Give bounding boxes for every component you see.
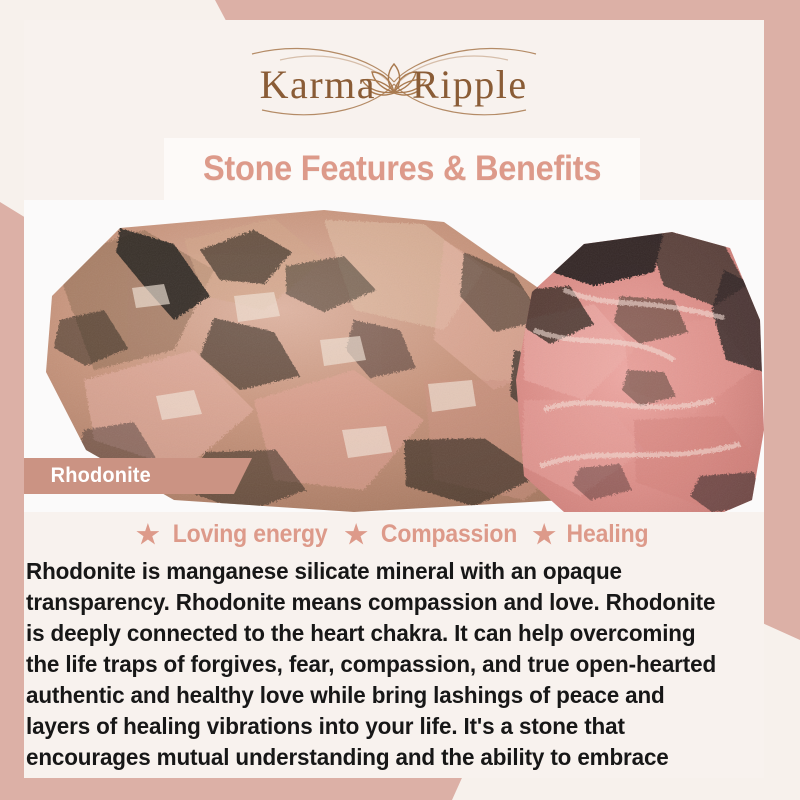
benefit-label: Compassion <box>381 520 517 549</box>
page-title-banner: Stone Features & Benefits <box>164 138 640 200</box>
stone-description-text: Rhodonite is manganese silicate mineral … <box>26 556 727 778</box>
stone-name-label: Rhodonite <box>24 464 151 488</box>
benefit-item-compassion: Compassion <box>345 520 523 549</box>
stone-description: Rhodonite is manganese silicate mineral … <box>26 556 764 778</box>
benefits-list: Loving energy Compassion Healing <box>24 520 764 549</box>
benefit-label: Loving energy <box>173 520 328 549</box>
brand-name-right: Ripple <box>412 62 528 107</box>
stone-name-banner: Rhodonite <box>24 458 252 494</box>
brand-name-left: Karma <box>260 62 376 107</box>
page-title: Stone Features & Benefits <box>203 149 601 189</box>
star-icon <box>345 523 368 546</box>
benefit-item-healing: Healing <box>533 520 652 549</box>
star-icon <box>136 523 159 546</box>
benefit-item-loving-energy: Loving energy <box>136 520 334 549</box>
content-page: Karma Ripple Stone Features & Benefits <box>24 20 764 778</box>
benefit-label: Healing <box>566 520 648 549</box>
star-icon <box>533 523 556 546</box>
brand-logo: Karma Ripple <box>24 44 764 122</box>
brand-logo-graphic: Karma Ripple <box>184 44 604 122</box>
